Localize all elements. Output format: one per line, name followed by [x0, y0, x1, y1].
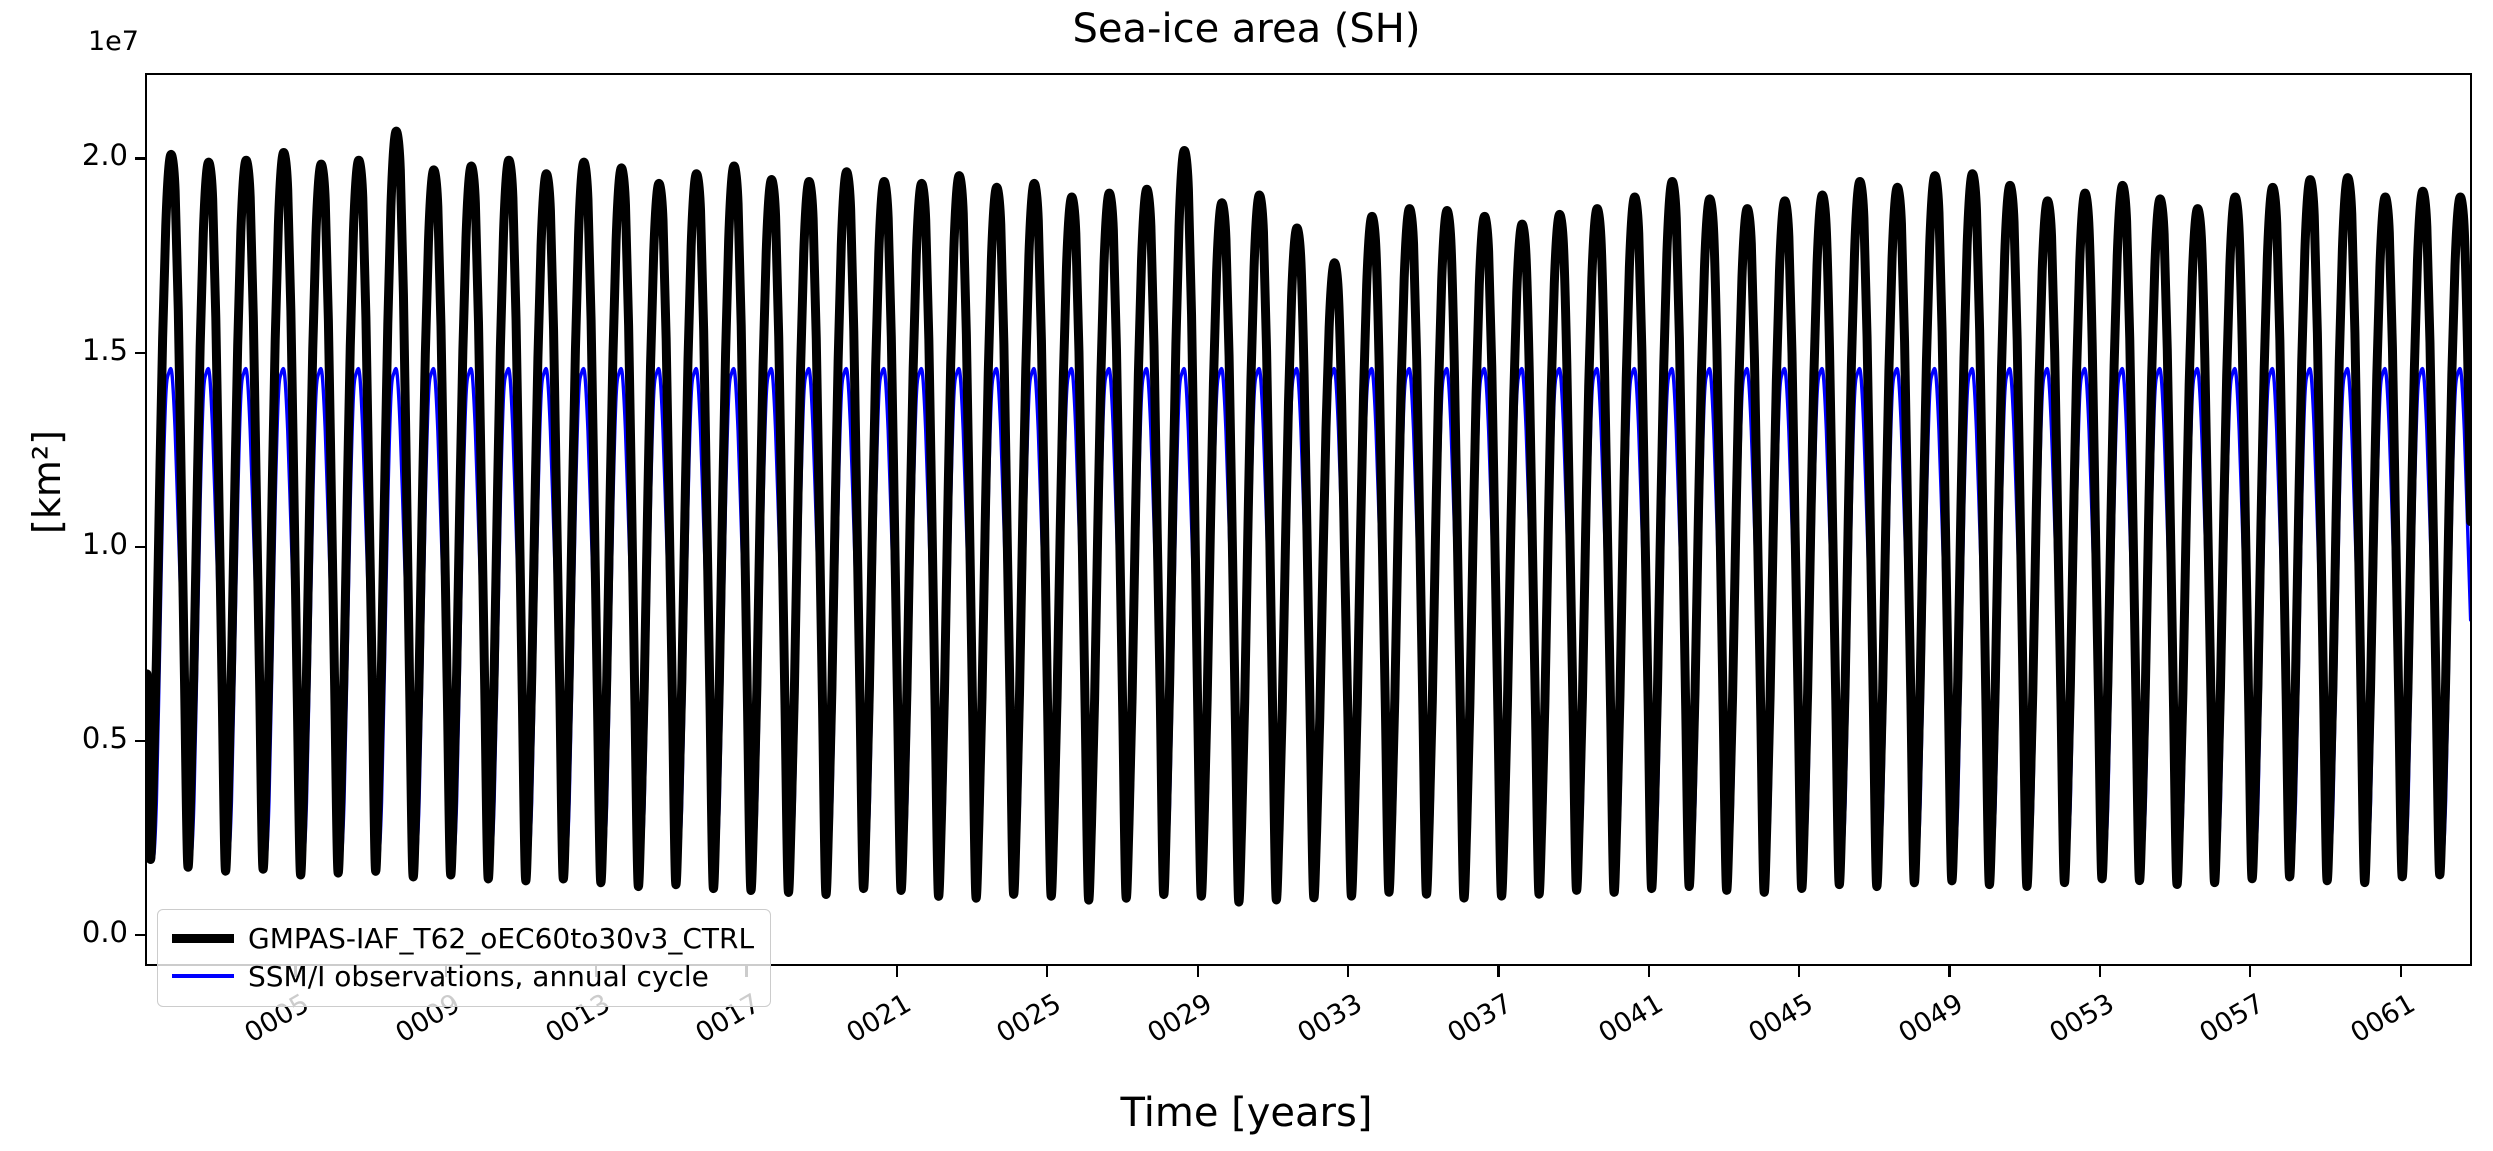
y-tick-label: 2.0: [0, 138, 128, 172]
y-axis-offset-label: 1e7: [88, 26, 139, 57]
y-axis-label: [km²]: [25, 182, 69, 782]
x-tick-label: 0041: [1576, 988, 1668, 1059]
series-canvas: [147, 75, 2470, 964]
x-tick-mark: [1497, 966, 1499, 977]
legend-item-observations: SSM/I observations, annual cycle: [172, 957, 754, 995]
plot-area: [145, 73, 2472, 966]
x-tick-label: 0049: [1877, 988, 1969, 1059]
x-tick-label: 0061: [2328, 988, 2420, 1059]
figure-canvas: Sea-ice area (SH) 1e7 [km²] 0.00.51.01.5…: [0, 0, 2493, 1151]
x-tick-label: 0057: [2178, 988, 2270, 1059]
legend-item-model: GMPAS-IAF_T62_oEC60to30v3_CTRL: [172, 919, 754, 957]
legend-label-model: GMPAS-IAF_T62_oEC60to30v3_CTRL: [248, 922, 754, 955]
legend-swatch-blue-line: [172, 974, 234, 977]
y-tick-label: 1.0: [0, 527, 128, 561]
chart-title: Sea-ice area (SH): [0, 6, 2493, 52]
x-tick-label: 0025: [975, 988, 1067, 1059]
series-line-gmpas-iaf-ctrl: [147, 131, 2470, 902]
x-tick-mark: [1798, 966, 1800, 977]
x-tick-mark: [2400, 966, 2402, 977]
x-tick-mark: [1648, 966, 1650, 977]
x-tick-label: 0029: [1125, 988, 1217, 1059]
x-tick-mark: [1948, 966, 1950, 977]
legend-box: GMPAS-IAF_T62_oEC60to30v3_CTRL SSM/I obs…: [157, 909, 771, 1007]
x-tick-mark: [1347, 966, 1349, 977]
x-tick-label: 0037: [1426, 988, 1518, 1059]
x-tick-label: 0033: [1276, 988, 1368, 1059]
x-axis-label: Time [years]: [0, 1090, 2493, 1136]
legend-label-observations: SSM/I observations, annual cycle: [248, 960, 709, 993]
y-tick-label: 1.5: [0, 333, 128, 367]
x-tick-label: 0045: [1727, 988, 1819, 1059]
x-tick-mark: [1197, 966, 1199, 977]
y-tick-label: 0.0: [0, 915, 128, 949]
x-tick-mark: [896, 966, 898, 977]
y-tick-label: 0.5: [0, 721, 128, 755]
x-tick-mark: [2099, 966, 2101, 977]
legend-swatch-black-line: [172, 934, 234, 943]
x-tick-label: 0053: [2028, 988, 2120, 1059]
x-tick-mark: [1046, 966, 1048, 977]
x-tick-label: 0021: [825, 988, 917, 1059]
x-tick-mark: [2249, 966, 2251, 977]
